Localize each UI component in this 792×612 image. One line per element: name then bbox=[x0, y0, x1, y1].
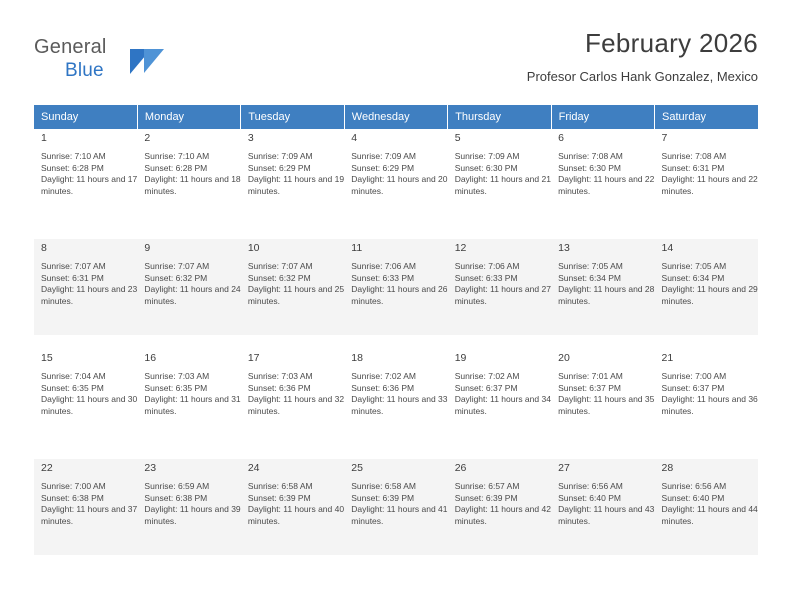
sunset-text: Sunset: 6:31 PM bbox=[41, 273, 137, 285]
page-title: February 2026 bbox=[527, 28, 758, 58]
daylight-text: Daylight: 11 hours and 29 minutes. bbox=[662, 284, 758, 307]
day-number: 9 bbox=[144, 242, 240, 255]
daylight-text: Daylight: 11 hours and 43 minutes. bbox=[558, 504, 654, 527]
title-block: February 2026 Profesor Carlos Hank Gonza… bbox=[527, 28, 758, 85]
sunset-text: Sunset: 6:35 PM bbox=[41, 383, 137, 395]
calendar-day-cell[interactable]: 19 Sunrise: 7:02 AM Sunset: 6:37 PM Dayl… bbox=[448, 349, 551, 445]
calendar-day-cell[interactable]: 8 Sunrise: 7:07 AM Sunset: 6:31 PM Dayli… bbox=[34, 239, 137, 335]
weekday-header-wednesday: Wednesday bbox=[344, 105, 447, 129]
daylight-text: Daylight: 11 hours and 22 minutes. bbox=[662, 174, 758, 197]
day-number: 8 bbox=[41, 242, 137, 255]
sunset-text: Sunset: 6:29 PM bbox=[351, 163, 447, 175]
calendar-day-cell[interactable]: 12 Sunrise: 7:06 AM Sunset: 6:33 PM Dayl… bbox=[448, 239, 551, 335]
flag-icon bbox=[130, 49, 164, 75]
daylight-text: Daylight: 11 hours and 36 minutes. bbox=[662, 394, 758, 417]
weekday-header-row: Sunday Monday Tuesday Wednesday Thursday… bbox=[34, 105, 758, 129]
brand-name-top: General bbox=[34, 36, 107, 58]
sunset-text: Sunset: 6:35 PM bbox=[144, 383, 240, 395]
day-number: 3 bbox=[248, 132, 344, 145]
sunrise-text: Sunrise: 6:56 AM bbox=[662, 481, 758, 493]
sunrise-text: Sunrise: 7:09 AM bbox=[248, 151, 344, 163]
week-spacer bbox=[34, 225, 758, 239]
sunrise-text: Sunrise: 7:03 AM bbox=[144, 371, 240, 383]
sunset-text: Sunset: 6:34 PM bbox=[558, 273, 654, 285]
daylight-text: Daylight: 11 hours and 32 minutes. bbox=[248, 394, 344, 417]
sunrise-text: Sunrise: 7:10 AM bbox=[41, 151, 137, 163]
daylight-text: Daylight: 11 hours and 39 minutes. bbox=[144, 504, 240, 527]
sunrise-text: Sunrise: 7:02 AM bbox=[455, 371, 551, 383]
calendar-week-row: 8 Sunrise: 7:07 AM Sunset: 6:31 PM Dayli… bbox=[34, 239, 758, 335]
calendar-day-cell[interactable]: 25 Sunrise: 6:58 AM Sunset: 6:39 PM Dayl… bbox=[344, 459, 447, 555]
sunrise-text: Sunrise: 7:06 AM bbox=[351, 261, 447, 273]
calendar-day-cell[interactable]: 7 Sunrise: 7:08 AM Sunset: 6:31 PM Dayli… bbox=[655, 129, 758, 225]
daylight-text: Daylight: 11 hours and 24 minutes. bbox=[144, 284, 240, 307]
daylight-text: Daylight: 11 hours and 33 minutes. bbox=[351, 394, 447, 417]
calendar-day-cell[interactable]: 15 Sunrise: 7:04 AM Sunset: 6:35 PM Dayl… bbox=[34, 349, 137, 445]
weekday-header-monday: Monday bbox=[137, 105, 240, 129]
sunset-text: Sunset: 6:37 PM bbox=[662, 383, 758, 395]
daylight-text: Daylight: 11 hours and 41 minutes. bbox=[351, 504, 447, 527]
calendar-day-cell[interactable]: 11 Sunrise: 7:06 AM Sunset: 6:33 PM Dayl… bbox=[344, 239, 447, 335]
sunrise-text: Sunrise: 7:03 AM bbox=[248, 371, 344, 383]
daylight-text: Daylight: 11 hours and 34 minutes. bbox=[455, 394, 551, 417]
calendar-day-cell[interactable]: 14 Sunrise: 7:05 AM Sunset: 6:34 PM Dayl… bbox=[655, 239, 758, 335]
day-number: 7 bbox=[662, 132, 758, 145]
calendar-week-row: 1 Sunrise: 7:10 AM Sunset: 6:28 PM Dayli… bbox=[34, 129, 758, 225]
daylight-text: Daylight: 11 hours and 20 minutes. bbox=[351, 174, 447, 197]
calendar-day-cell[interactable]: 5 Sunrise: 7:09 AM Sunset: 6:30 PM Dayli… bbox=[448, 129, 551, 225]
daylight-text: Daylight: 11 hours and 17 minutes. bbox=[41, 174, 137, 197]
sunrise-text: Sunrise: 7:01 AM bbox=[558, 371, 654, 383]
brand-logo: General Blue bbox=[34, 36, 234, 84]
daylight-text: Daylight: 11 hours and 35 minutes. bbox=[558, 394, 654, 417]
daylight-text: Daylight: 11 hours and 26 minutes. bbox=[351, 284, 447, 307]
day-number: 12 bbox=[455, 242, 551, 255]
brand-name-bottom: Blue bbox=[65, 60, 104, 82]
calendar-day-cell[interactable]: 21 Sunrise: 7:00 AM Sunset: 6:37 PM Dayl… bbox=[655, 349, 758, 445]
day-number: 11 bbox=[351, 242, 447, 255]
daylight-text: Daylight: 11 hours and 18 minutes. bbox=[144, 174, 240, 197]
calendar-day-cell[interactable]: 28 Sunrise: 6:56 AM Sunset: 6:40 PM Dayl… bbox=[655, 459, 758, 555]
sunset-text: Sunset: 6:40 PM bbox=[662, 493, 758, 505]
day-number: 22 bbox=[41, 462, 137, 475]
calendar-day-cell[interactable]: 10 Sunrise: 7:07 AM Sunset: 6:32 PM Dayl… bbox=[241, 239, 344, 335]
daylight-text: Daylight: 11 hours and 19 minutes. bbox=[248, 174, 344, 197]
day-number: 16 bbox=[144, 352, 240, 365]
day-number: 26 bbox=[455, 462, 551, 475]
day-number: 27 bbox=[558, 462, 654, 475]
calendar-day-cell[interactable]: 6 Sunrise: 7:08 AM Sunset: 6:30 PM Dayli… bbox=[551, 129, 654, 225]
sunset-text: Sunset: 6:33 PM bbox=[351, 273, 447, 285]
sunset-text: Sunset: 6:39 PM bbox=[455, 493, 551, 505]
day-number: 28 bbox=[662, 462, 758, 475]
calendar-table: Sunday Monday Tuesday Wednesday Thursday… bbox=[34, 105, 758, 555]
day-number: 20 bbox=[558, 352, 654, 365]
day-number: 4 bbox=[351, 132, 447, 145]
daylight-text: Daylight: 11 hours and 23 minutes. bbox=[41, 284, 137, 307]
weekday-header-saturday: Saturday bbox=[655, 105, 758, 129]
sunrise-text: Sunrise: 7:08 AM bbox=[662, 151, 758, 163]
weekday-header-sunday: Sunday bbox=[34, 105, 137, 129]
calendar-week-row: 22 Sunrise: 7:00 AM Sunset: 6:38 PM Dayl… bbox=[34, 459, 758, 555]
sunset-text: Sunset: 6:33 PM bbox=[455, 273, 551, 285]
daylight-text: Daylight: 11 hours and 44 minutes. bbox=[662, 504, 758, 527]
sunset-text: Sunset: 6:37 PM bbox=[455, 383, 551, 395]
sunrise-text: Sunrise: 7:10 AM bbox=[144, 151, 240, 163]
sunrise-text: Sunrise: 7:00 AM bbox=[41, 481, 137, 493]
day-number: 24 bbox=[248, 462, 344, 475]
sunset-text: Sunset: 6:28 PM bbox=[144, 163, 240, 175]
day-number: 21 bbox=[662, 352, 758, 365]
sunrise-text: Sunrise: 7:02 AM bbox=[351, 371, 447, 383]
sunset-text: Sunset: 6:38 PM bbox=[144, 493, 240, 505]
day-number: 17 bbox=[248, 352, 344, 365]
daylight-text: Daylight: 11 hours and 27 minutes. bbox=[455, 284, 551, 307]
sunset-text: Sunset: 6:37 PM bbox=[558, 383, 654, 395]
sunrise-text: Sunrise: 7:05 AM bbox=[662, 261, 758, 273]
sunrise-text: Sunrise: 6:58 AM bbox=[351, 481, 447, 493]
day-number: 5 bbox=[455, 132, 551, 145]
sunrise-text: Sunrise: 7:08 AM bbox=[558, 151, 654, 163]
calendar-day-cell[interactable]: 3 Sunrise: 7:09 AM Sunset: 6:29 PM Dayli… bbox=[241, 129, 344, 225]
sunrise-text: Sunrise: 7:00 AM bbox=[662, 371, 758, 383]
daylight-text: Daylight: 11 hours and 28 minutes. bbox=[558, 284, 654, 307]
sunset-text: Sunset: 6:34 PM bbox=[662, 273, 758, 285]
calendar-day-cell[interactable]: 23 Sunrise: 6:59 AM Sunset: 6:38 PM Dayl… bbox=[137, 459, 240, 555]
daylight-text: Daylight: 11 hours and 25 minutes. bbox=[248, 284, 344, 307]
daylight-text: Daylight: 11 hours and 31 minutes. bbox=[144, 394, 240, 417]
sunrise-text: Sunrise: 6:57 AM bbox=[455, 481, 551, 493]
sunset-text: Sunset: 6:29 PM bbox=[248, 163, 344, 175]
daylight-text: Daylight: 11 hours and 37 minutes. bbox=[41, 504, 137, 527]
day-number: 14 bbox=[662, 242, 758, 255]
calendar-day-cell[interactable]: 22 Sunrise: 7:00 AM Sunset: 6:38 PM Dayl… bbox=[34, 459, 137, 555]
calendar-day-cell[interactable]: 2 Sunrise: 7:10 AM Sunset: 6:28 PM Dayli… bbox=[137, 129, 240, 225]
sunrise-text: Sunrise: 7:07 AM bbox=[248, 261, 344, 273]
calendar-body: 1 Sunrise: 7:10 AM Sunset: 6:28 PM Dayli… bbox=[34, 129, 758, 555]
day-number: 19 bbox=[455, 352, 551, 365]
sunset-text: Sunset: 6:32 PM bbox=[144, 273, 240, 285]
sunset-text: Sunset: 6:28 PM bbox=[41, 163, 137, 175]
sunset-text: Sunset: 6:38 PM bbox=[41, 493, 137, 505]
weekday-header-thursday: Thursday bbox=[448, 105, 551, 129]
day-number: 15 bbox=[41, 352, 137, 365]
sunset-text: Sunset: 6:31 PM bbox=[662, 163, 758, 175]
calendar-day-cell[interactable]: 1 Sunrise: 7:10 AM Sunset: 6:28 PM Dayli… bbox=[34, 129, 137, 225]
calendar-day-cell[interactable]: 17 Sunrise: 7:03 AM Sunset: 6:36 PM Dayl… bbox=[241, 349, 344, 445]
sunset-text: Sunset: 6:36 PM bbox=[351, 383, 447, 395]
sunset-text: Sunset: 6:30 PM bbox=[558, 163, 654, 175]
daylight-text: Daylight: 11 hours and 21 minutes. bbox=[455, 174, 551, 197]
week-spacer bbox=[34, 445, 758, 459]
calendar-day-cell[interactable]: 16 Sunrise: 7:03 AM Sunset: 6:35 PM Dayl… bbox=[137, 349, 240, 445]
sunrise-text: Sunrise: 7:06 AM bbox=[455, 261, 551, 273]
sunset-text: Sunset: 6:32 PM bbox=[248, 273, 344, 285]
day-number: 13 bbox=[558, 242, 654, 255]
daylight-text: Daylight: 11 hours and 22 minutes. bbox=[558, 174, 654, 197]
sunrise-text: Sunrise: 6:56 AM bbox=[558, 481, 654, 493]
day-number: 2 bbox=[144, 132, 240, 145]
sunrise-text: Sunrise: 6:59 AM bbox=[144, 481, 240, 493]
day-number: 6 bbox=[558, 132, 654, 145]
calendar-week-row: 15 Sunrise: 7:04 AM Sunset: 6:35 PM Dayl… bbox=[34, 349, 758, 445]
calendar-day-cell[interactable]: 18 Sunrise: 7:02 AM Sunset: 6:36 PM Dayl… bbox=[344, 349, 447, 445]
sunrise-text: Sunrise: 7:07 AM bbox=[41, 261, 137, 273]
sunset-text: Sunset: 6:30 PM bbox=[455, 163, 551, 175]
calendar-day-cell[interactable]: 9 Sunrise: 7:07 AM Sunset: 6:32 PM Dayli… bbox=[137, 239, 240, 335]
calendar-page: General Blue February 2026 Profesor Carl… bbox=[0, 0, 792, 612]
week-spacer bbox=[34, 335, 758, 349]
weekday-header-tuesday: Tuesday bbox=[241, 105, 344, 129]
day-number: 10 bbox=[248, 242, 344, 255]
calendar-day-cell[interactable]: 20 Sunrise: 7:01 AM Sunset: 6:37 PM Dayl… bbox=[551, 349, 654, 445]
weekday-header-friday: Friday bbox=[551, 105, 654, 129]
daylight-text: Daylight: 11 hours and 42 minutes. bbox=[455, 504, 551, 527]
calendar-day-cell[interactable]: 27 Sunrise: 6:56 AM Sunset: 6:40 PM Dayl… bbox=[551, 459, 654, 555]
calendar-day-cell[interactable]: 13 Sunrise: 7:05 AM Sunset: 6:34 PM Dayl… bbox=[551, 239, 654, 335]
day-number: 1 bbox=[41, 132, 137, 145]
sunset-text: Sunset: 6:39 PM bbox=[351, 493, 447, 505]
sunrise-text: Sunrise: 7:04 AM bbox=[41, 371, 137, 383]
calendar-day-cell[interactable]: 26 Sunrise: 6:57 AM Sunset: 6:39 PM Dayl… bbox=[448, 459, 551, 555]
day-number: 23 bbox=[144, 462, 240, 475]
daylight-text: Daylight: 11 hours and 40 minutes. bbox=[248, 504, 344, 527]
sunset-text: Sunset: 6:36 PM bbox=[248, 383, 344, 395]
sunrise-text: Sunrise: 7:05 AM bbox=[558, 261, 654, 273]
sunrise-text: Sunrise: 7:07 AM bbox=[144, 261, 240, 273]
sunset-text: Sunset: 6:40 PM bbox=[558, 493, 654, 505]
sunrise-text: Sunrise: 6:58 AM bbox=[248, 481, 344, 493]
calendar-day-cell[interactable]: 4 Sunrise: 7:09 AM Sunset: 6:29 PM Dayli… bbox=[344, 129, 447, 225]
page-header: General Blue February 2026 Profesor Carl… bbox=[34, 28, 758, 90]
sunset-text: Sunset: 6:39 PM bbox=[248, 493, 344, 505]
sunrise-text: Sunrise: 7:09 AM bbox=[455, 151, 551, 163]
day-number: 18 bbox=[351, 352, 447, 365]
calendar-day-cell[interactable]: 24 Sunrise: 6:58 AM Sunset: 6:39 PM Dayl… bbox=[241, 459, 344, 555]
sunrise-text: Sunrise: 7:09 AM bbox=[351, 151, 447, 163]
day-number: 25 bbox=[351, 462, 447, 475]
daylight-text: Daylight: 11 hours and 30 minutes. bbox=[41, 394, 137, 417]
page-subtitle: Profesor Carlos Hank Gonzalez, Mexico bbox=[527, 69, 758, 85]
